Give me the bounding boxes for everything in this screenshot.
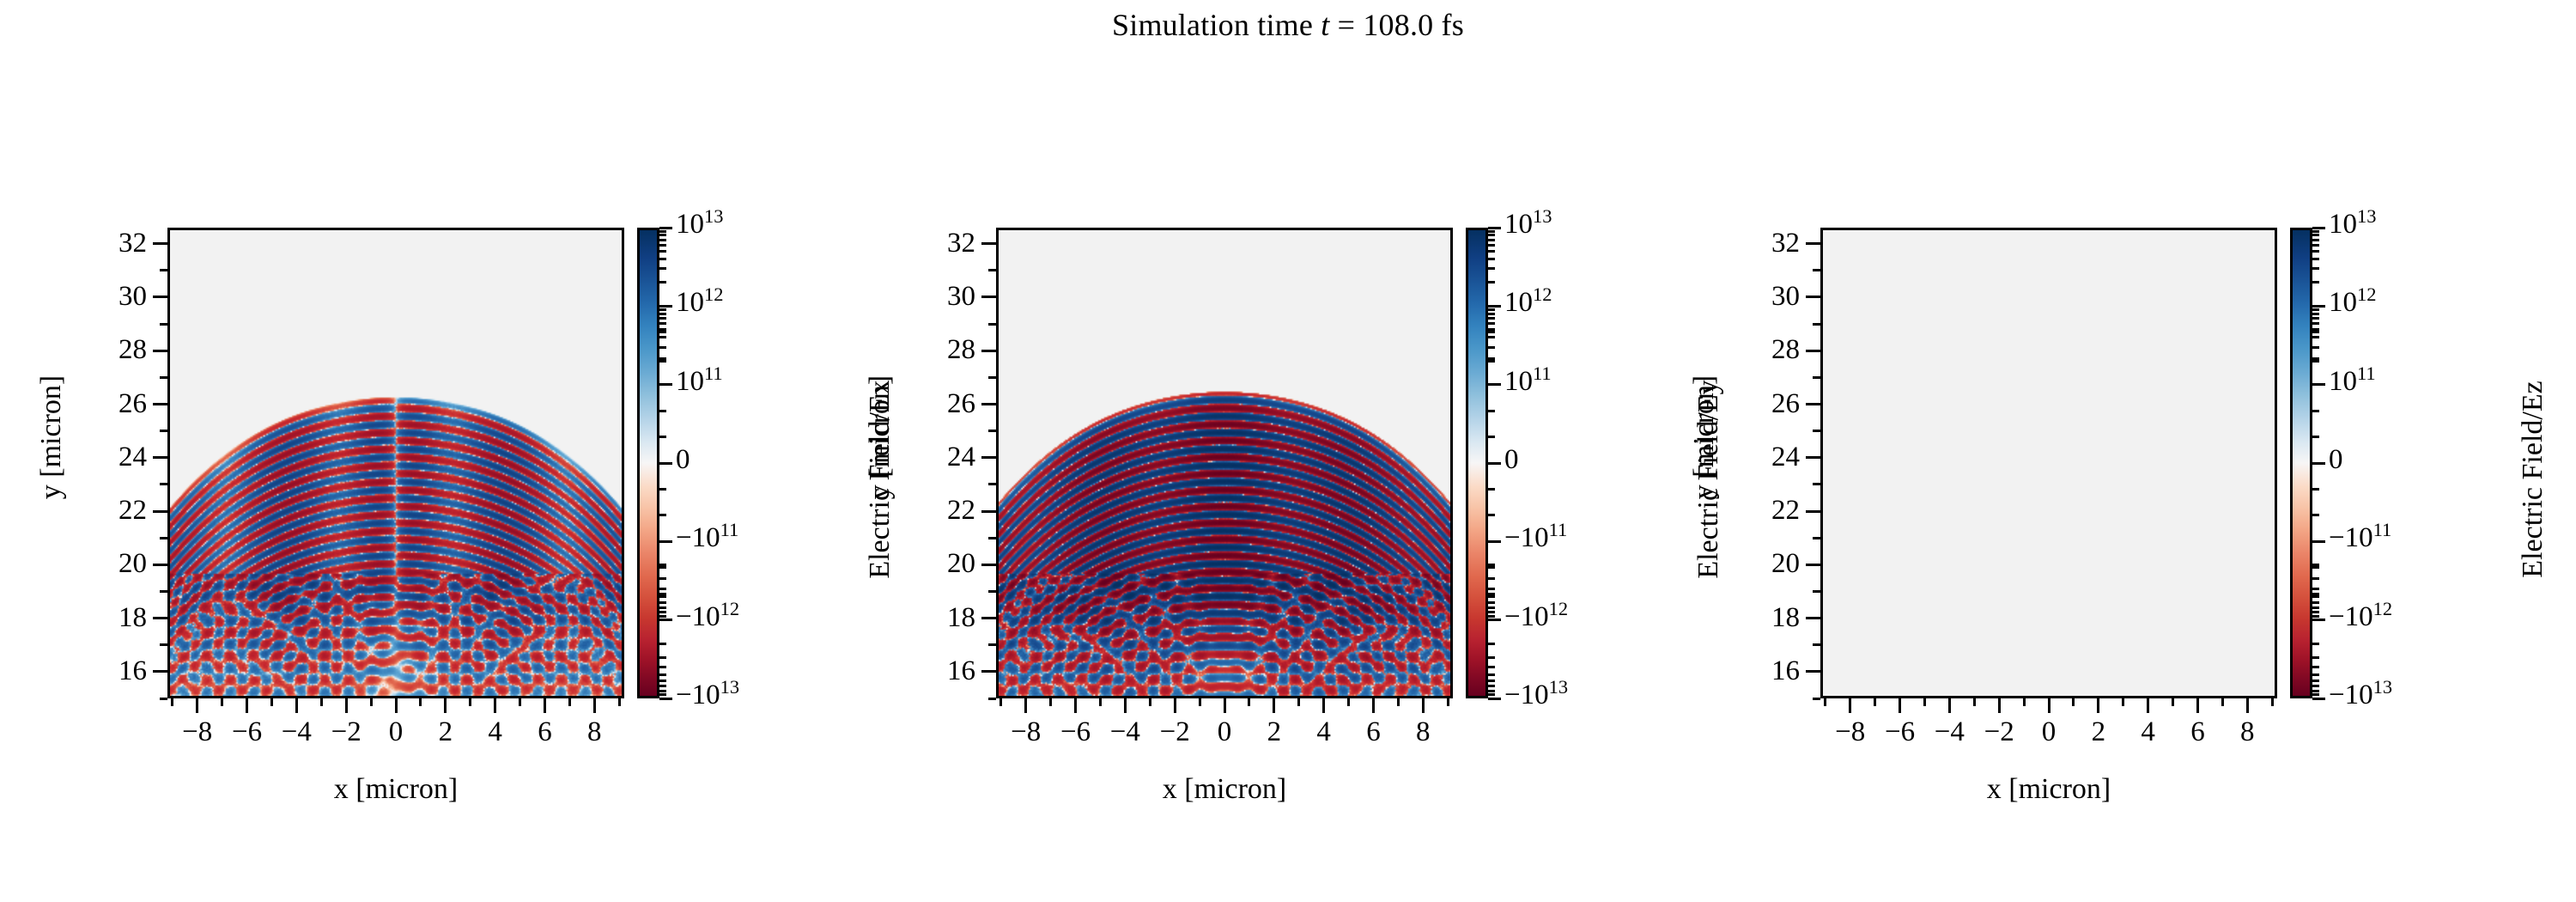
y-axis-tick-label: 20 bbox=[0, 550, 147, 578]
x-axis-tick-major bbox=[1224, 698, 1226, 713]
colorbar-tick-minor bbox=[1488, 258, 1495, 260]
colorbar-tick-minor bbox=[2312, 690, 2319, 692]
colorbar-tick-minor bbox=[1488, 357, 1495, 360]
colorbar-tick-minor bbox=[2312, 234, 2319, 236]
colorbar-tick-minor bbox=[659, 690, 666, 692]
x-axis-tick-minor bbox=[2221, 698, 2224, 706]
colorbar-tick-minor bbox=[2312, 281, 2319, 283]
y-axis-tick-major bbox=[1806, 670, 1820, 673]
y-axis-tick-major bbox=[981, 564, 996, 566]
x-axis-tick-minor bbox=[1049, 698, 1052, 706]
y-axis-tick-major bbox=[1806, 296, 1820, 298]
colorbar-tick-minor bbox=[659, 666, 666, 668]
x-axis-tick-minor bbox=[419, 698, 422, 706]
colorbar-tick-minor bbox=[659, 577, 666, 580]
colorbar-tick-major bbox=[2312, 227, 2325, 229]
colorbar-tick-minor bbox=[659, 436, 666, 438]
field-panel-ey: 161820222426283032−8−6−4−202468x [micron… bbox=[829, 0, 1687, 902]
colorbar-tick-minor bbox=[659, 685, 666, 687]
x-axis-tick-minor bbox=[1923, 698, 1926, 706]
y-axis-tick-label: 18 bbox=[0, 604, 147, 632]
x-axis-tick-major bbox=[1849, 698, 1851, 713]
y-axis-tick-minor bbox=[988, 698, 996, 700]
colorbar-tick-major bbox=[659, 383, 672, 386]
colorbar-tick-minor bbox=[2312, 308, 2319, 311]
colorbar-tick-minor bbox=[1488, 514, 1495, 516]
colorbar-tick-minor bbox=[1488, 588, 1495, 590]
y-axis-tick-minor bbox=[1813, 698, 1820, 700]
y-axis-tick-minor bbox=[988, 376, 996, 379]
y-axis-tick-major bbox=[153, 456, 167, 459]
colorbar-tick-minor bbox=[659, 250, 666, 253]
x-axis-tick-major bbox=[2097, 698, 2099, 713]
colorbar-tick-major bbox=[1488, 462, 1501, 465]
y-axis-tick-minor bbox=[988, 537, 996, 539]
field-heatmap bbox=[170, 230, 622, 696]
y-axis-tick-major bbox=[1806, 456, 1820, 459]
colorbar-tick-minor bbox=[659, 313, 666, 315]
colorbar-tick-minor bbox=[659, 258, 666, 260]
x-axis-tick-minor bbox=[2023, 698, 2026, 706]
colorbar-tick-minor bbox=[659, 331, 666, 333]
colorbar-tick-minor bbox=[1488, 673, 1495, 676]
colorbar-tick-major bbox=[659, 227, 672, 229]
colorbar-tick-minor bbox=[2312, 611, 2319, 613]
colorbar-tick-minor bbox=[1488, 281, 1495, 283]
x-axis-tick-major bbox=[2246, 698, 2249, 713]
colorbar-tick-minor bbox=[1488, 436, 1495, 438]
x-axis-tick-major bbox=[395, 698, 398, 713]
colorbar-tick-minor bbox=[1488, 244, 1495, 247]
colorbar-tick-minor bbox=[659, 606, 666, 609]
colorbar-title: Electric Field/Ez bbox=[2517, 222, 2549, 737]
y-axis-tick-minor bbox=[1813, 376, 1820, 379]
colorbar-tick-minor bbox=[2312, 331, 2319, 333]
y-axis-tick-major bbox=[981, 510, 996, 513]
y-axis-tick-major bbox=[153, 350, 167, 352]
x-axis-tick-major bbox=[1124, 698, 1127, 713]
x-axis-tick-minor bbox=[519, 698, 521, 706]
x-axis-tick-major bbox=[1422, 698, 1425, 713]
colorbar-tick-minor bbox=[1488, 331, 1495, 333]
colorbar-tick-minor bbox=[659, 595, 666, 598]
x-axis-tick-minor bbox=[1099, 698, 1102, 706]
colorbar-tick-minor bbox=[2312, 656, 2319, 659]
plot-area-ex[interactable] bbox=[167, 228, 624, 698]
y-axis-tick-minor bbox=[160, 537, 167, 539]
x-axis-tick-major bbox=[196, 698, 198, 713]
colorbar-tick-minor bbox=[1488, 410, 1495, 412]
colorbar-tick-minor bbox=[659, 244, 666, 247]
x-axis-tick-minor bbox=[1199, 698, 1201, 706]
colorbar-ey[interactable] bbox=[1466, 228, 1488, 698]
colorbar-tick-minor bbox=[659, 410, 666, 412]
colorbar-tick-major bbox=[659, 619, 672, 621]
colorbar-tick-minor bbox=[2312, 680, 2319, 682]
x-axis-tick-major bbox=[1074, 698, 1077, 713]
x-axis-tick-minor bbox=[2122, 698, 2124, 706]
x-axis-tick-minor bbox=[999, 698, 1002, 706]
y-axis-tick-minor bbox=[1813, 323, 1820, 326]
y-axis-tick-minor bbox=[160, 698, 167, 700]
colorbar-tick-minor bbox=[2312, 336, 2319, 338]
colorbar-tick-major bbox=[2312, 540, 2325, 543]
y-axis-tick-minor bbox=[160, 323, 167, 326]
y-axis-tick-major bbox=[153, 510, 167, 513]
x-axis-tick-major bbox=[444, 698, 447, 713]
y-axis-tick-minor bbox=[988, 430, 996, 432]
y-axis-tick-label: 16 bbox=[1628, 657, 1800, 686]
colorbar-tick-minor bbox=[659, 680, 666, 682]
colorbar-tick-minor bbox=[659, 267, 666, 270]
x-axis-tick-minor bbox=[469, 698, 471, 706]
y-axis-tick-label: 30 bbox=[0, 283, 147, 311]
colorbar-tick-minor bbox=[1488, 566, 1495, 569]
y-axis-tick-minor bbox=[1813, 483, 1820, 485]
colorbar-tick-minor bbox=[2312, 230, 2319, 233]
colorbar-tick-minor bbox=[1488, 360, 1495, 363]
colorbar-tick-minor bbox=[2312, 595, 2319, 598]
colorbar-tick-minor bbox=[659, 656, 666, 659]
colorbar-tick-minor bbox=[1488, 317, 1495, 320]
colorbar-tick-minor bbox=[1488, 666, 1495, 668]
colorbar-tick-minor bbox=[1488, 685, 1495, 687]
x-axis-tick-label: 8 bbox=[543, 718, 646, 747]
x-axis-tick-major bbox=[1948, 698, 1951, 713]
x-axis-tick-minor bbox=[1973, 698, 1976, 706]
colorbar-tick-minor bbox=[2312, 346, 2319, 349]
colorbar-tick-minor bbox=[1488, 643, 1495, 645]
x-axis-tick-label: 8 bbox=[2196, 718, 2299, 747]
colorbar-tick-minor bbox=[1488, 690, 1495, 692]
x-axis-tick-minor bbox=[1447, 698, 1449, 706]
colorbar-tick-minor bbox=[2312, 615, 2319, 618]
colorbar-tick-minor bbox=[2312, 601, 2319, 604]
y-axis-tick-minor bbox=[988, 643, 996, 646]
y-axis-tick-major bbox=[153, 564, 167, 566]
x-axis-tick-minor bbox=[1297, 698, 1300, 706]
y-axis-tick-minor bbox=[988, 323, 996, 326]
colorbar-tick-minor bbox=[2312, 360, 2319, 363]
colorbar-tick-minor bbox=[1488, 322, 1495, 325]
y-axis-tick-label: 22 bbox=[0, 497, 147, 525]
colorbar-tick-minor bbox=[659, 346, 666, 349]
colorbar-tick-major bbox=[1488, 305, 1501, 308]
x-axis-tick-major bbox=[2196, 698, 2199, 713]
x-axis-tick-minor bbox=[2172, 698, 2174, 706]
colorbar-tick-minor bbox=[2312, 588, 2319, 590]
x-axis-tick-major bbox=[1899, 698, 1901, 713]
y-axis-label: y [micron] bbox=[864, 231, 896, 643]
colorbar-tick-minor bbox=[659, 336, 666, 338]
x-axis-tick-major bbox=[593, 698, 596, 713]
colorbar-tick-minor bbox=[2312, 313, 2319, 315]
y-axis-tick-minor bbox=[160, 483, 167, 485]
colorbar-tick-minor bbox=[659, 488, 666, 491]
y-axis-tick-minor bbox=[1813, 269, 1820, 271]
colorbar-tick-minor bbox=[1488, 488, 1495, 491]
y-axis-tick-minor bbox=[1813, 590, 1820, 593]
y-axis-tick-major bbox=[1806, 350, 1820, 352]
colorbar-tick-minor bbox=[1488, 234, 1495, 236]
y-axis-tick-major bbox=[981, 456, 996, 459]
colorbar-tick-minor bbox=[1488, 308, 1495, 311]
colorbar-tick-minor bbox=[2312, 357, 2319, 360]
x-axis-tick-label: 8 bbox=[1371, 718, 1474, 747]
colorbar-tick-major bbox=[1488, 619, 1501, 621]
y-axis-tick-major bbox=[981, 242, 996, 245]
colorbar-tick-minor bbox=[1488, 601, 1495, 604]
y-axis-tick-major bbox=[1806, 242, 1820, 245]
colorbar-tick-minor bbox=[2312, 666, 2319, 668]
colorbar-tick-minor bbox=[659, 611, 666, 613]
colorbar-tick-minor bbox=[659, 643, 666, 645]
x-axis-tick-major bbox=[2048, 698, 2050, 713]
colorbar-tick-major bbox=[1488, 227, 1501, 229]
colorbar-tick-minor bbox=[659, 514, 666, 516]
y-axis-label: y [micron] bbox=[1688, 231, 1721, 643]
x-axis-label: x [micron] bbox=[1820, 773, 2277, 806]
colorbar-tick-minor bbox=[659, 601, 666, 604]
y-axis-tick-major bbox=[981, 350, 996, 352]
colorbar-tick-minor bbox=[659, 693, 666, 696]
colorbar-tick-minor bbox=[1488, 680, 1495, 682]
colorbar-tick-minor bbox=[1488, 250, 1495, 253]
y-axis-tick-major bbox=[981, 670, 996, 673]
colorbar-tick-minor bbox=[1488, 267, 1495, 270]
colorbar-tick-minor bbox=[2312, 685, 2319, 687]
colorbar-tick-minor bbox=[1488, 346, 1495, 349]
colorbar-tick-minor bbox=[2312, 322, 2319, 325]
colorbar-tick-minor bbox=[2312, 606, 2319, 609]
colorbar-tick-minor bbox=[2312, 673, 2319, 676]
colorbar-tick-minor bbox=[2312, 239, 2319, 241]
x-axis-label: x [micron] bbox=[996, 773, 1453, 806]
x-axis-tick-major bbox=[544, 698, 546, 713]
y-axis-tick-major bbox=[1806, 564, 1820, 566]
colorbar-tick-minor bbox=[2312, 693, 2319, 696]
colorbar-tick-minor bbox=[659, 673, 666, 676]
colorbar-tick-major bbox=[1488, 383, 1501, 386]
colorbar-tick-minor bbox=[2312, 436, 2319, 438]
x-axis-tick-minor bbox=[2271, 698, 2274, 706]
x-axis-tick-major bbox=[1174, 698, 1176, 713]
colorbar-tick-major bbox=[1488, 540, 1501, 543]
y-axis-tick-minor bbox=[160, 590, 167, 593]
colorbar-tick-minor bbox=[1488, 313, 1495, 315]
x-axis-tick-major bbox=[494, 698, 496, 713]
y-axis-tick-major bbox=[981, 296, 996, 298]
x-axis-tick-minor bbox=[1347, 698, 1350, 706]
x-axis-tick-minor bbox=[1874, 698, 1876, 706]
colorbar-tick-minor bbox=[2312, 514, 2319, 516]
colorbar-tick-minor bbox=[1488, 656, 1495, 659]
colorbar-tick-minor bbox=[659, 615, 666, 618]
y-axis-tick-minor bbox=[160, 430, 167, 432]
y-axis-tick-minor bbox=[988, 590, 996, 593]
colorbar-tick-minor bbox=[659, 230, 666, 233]
y-axis-tick-label: 16 bbox=[0, 657, 147, 686]
y-axis-tick-minor bbox=[160, 643, 167, 646]
y-axis-tick-label: 16 bbox=[804, 657, 975, 686]
colorbar-tick-minor bbox=[659, 593, 666, 595]
y-axis-tick-label: 32 bbox=[0, 229, 147, 258]
y-axis-tick-major bbox=[1806, 403, 1820, 405]
colorbar-tick-major bbox=[659, 540, 672, 543]
colorbar-tick-major bbox=[659, 698, 672, 700]
field-panel-ex: 161820222426283032−8−6−4−202468x [micron… bbox=[0, 0, 859, 902]
x-axis-tick-minor bbox=[270, 698, 273, 706]
colorbar-tick-major bbox=[2312, 462, 2325, 465]
x-axis-tick-major bbox=[246, 698, 248, 713]
y-axis-tick-major bbox=[153, 617, 167, 619]
x-axis-tick-minor bbox=[618, 698, 621, 706]
colorbar-tick-minor bbox=[659, 317, 666, 320]
colorbar-tick-minor bbox=[659, 281, 666, 283]
y-axis-tick-major bbox=[153, 670, 167, 673]
colorbar-tick-minor bbox=[2312, 566, 2319, 569]
y-axis-tick-minor bbox=[1813, 537, 1820, 539]
x-axis-tick-minor bbox=[1397, 698, 1400, 706]
x-axis-tick-major bbox=[1998, 698, 2001, 713]
y-axis-tick-major bbox=[981, 403, 996, 405]
y-axis-tick-label: 28 bbox=[0, 336, 147, 364]
colorbar-tick-minor bbox=[2312, 593, 2319, 595]
plot-area-ez[interactable] bbox=[1820, 228, 2277, 698]
colorbar-tick-minor bbox=[1488, 593, 1495, 595]
colorbar-tick-major bbox=[2312, 383, 2325, 386]
y-axis-label: y [micron] bbox=[35, 231, 68, 643]
x-axis-tick-minor bbox=[320, 698, 323, 706]
field-heatmap bbox=[1823, 230, 2275, 696]
colorbar-tick-minor bbox=[2312, 250, 2319, 253]
colorbar-tick-minor bbox=[659, 322, 666, 325]
y-axis-tick-major bbox=[981, 617, 996, 619]
x-axis-tick-minor bbox=[171, 698, 173, 706]
colorbar-tick-minor bbox=[659, 308, 666, 311]
y-axis-tick-major bbox=[1806, 510, 1820, 513]
x-axis-tick-major bbox=[1372, 698, 1375, 713]
y-axis-tick-label: 26 bbox=[0, 390, 147, 418]
x-axis-tick-major bbox=[1024, 698, 1027, 713]
x-axis-tick-minor bbox=[370, 698, 373, 706]
colorbar-tick-minor bbox=[659, 566, 666, 569]
colorbar-tick-minor bbox=[1488, 693, 1495, 696]
colorbar-tick-minor bbox=[1488, 577, 1495, 580]
colorbar-tick-minor bbox=[1488, 336, 1495, 338]
x-axis-tick-major bbox=[2147, 698, 2149, 713]
x-axis-tick-minor bbox=[2072, 698, 2075, 706]
colorbar-tick-minor bbox=[659, 588, 666, 590]
colorbar-tick-minor bbox=[1488, 595, 1495, 598]
colorbar-tick-minor bbox=[659, 357, 666, 360]
y-axis-tick-major bbox=[153, 403, 167, 405]
y-axis-tick-minor bbox=[1813, 643, 1820, 646]
colorbar-ez[interactable] bbox=[2290, 228, 2312, 698]
colorbar-tick-minor bbox=[2312, 267, 2319, 270]
colorbar-tick-minor bbox=[1488, 611, 1495, 613]
colorbar-tick-minor bbox=[659, 239, 666, 241]
x-axis-tick-major bbox=[1322, 698, 1325, 713]
colorbar-tick-major bbox=[2312, 305, 2325, 308]
colorbar-tick-minor bbox=[1488, 239, 1495, 241]
colorbar-tick-minor bbox=[1488, 615, 1495, 618]
y-axis-tick-major bbox=[153, 296, 167, 298]
y-axis-tick-minor bbox=[160, 269, 167, 271]
plot-area-ey[interactable] bbox=[996, 228, 1453, 698]
colorbar-tick-major bbox=[2312, 698, 2325, 700]
colorbar-tick-minor bbox=[2312, 410, 2319, 412]
y-axis-tick-minor bbox=[988, 483, 996, 485]
colorbar-tick-minor bbox=[659, 360, 666, 363]
field-panel-ez: 161820222426283032−8−6−4−202468x [micron… bbox=[1653, 0, 2512, 902]
y-axis-tick-major bbox=[1806, 617, 1820, 619]
colorbar-tick-minor bbox=[1488, 230, 1495, 233]
colorbar-tick-major bbox=[659, 462, 672, 465]
x-axis-tick-minor bbox=[221, 698, 223, 706]
colorbar-tick-major bbox=[659, 305, 672, 308]
colorbar-tick-minor bbox=[2312, 577, 2319, 580]
colorbar-tick-minor bbox=[1488, 606, 1495, 609]
colorbar-tick-minor bbox=[2312, 317, 2319, 320]
y-axis-tick-major bbox=[153, 242, 167, 245]
x-axis-tick-major bbox=[295, 698, 298, 713]
x-axis-tick-major bbox=[345, 698, 348, 713]
colorbar-tick-minor bbox=[2312, 244, 2319, 247]
y-axis-tick-minor bbox=[1813, 430, 1820, 432]
colorbar-tick-major bbox=[1488, 698, 1501, 700]
colorbar-tick-minor bbox=[2312, 643, 2319, 645]
y-axis-tick-minor bbox=[988, 269, 996, 271]
x-axis-label: x [micron] bbox=[167, 773, 624, 806]
colorbar-tick-major bbox=[2312, 619, 2325, 621]
x-axis-tick-minor bbox=[568, 698, 571, 706]
y-axis-tick-label: 24 bbox=[0, 443, 147, 472]
field-heatmap bbox=[999, 230, 1450, 696]
y-axis-tick-minor bbox=[160, 376, 167, 379]
x-axis-tick-minor bbox=[1824, 698, 1826, 706]
x-axis-tick-major bbox=[1273, 698, 1275, 713]
colorbar-tick-minor bbox=[659, 234, 666, 236]
x-axis-tick-minor bbox=[1248, 698, 1250, 706]
x-axis-tick-minor bbox=[1149, 698, 1151, 706]
colorbar-tick-minor bbox=[2312, 258, 2319, 260]
colorbar-ex[interactable] bbox=[637, 228, 659, 698]
colorbar-tick-minor bbox=[2312, 488, 2319, 491]
